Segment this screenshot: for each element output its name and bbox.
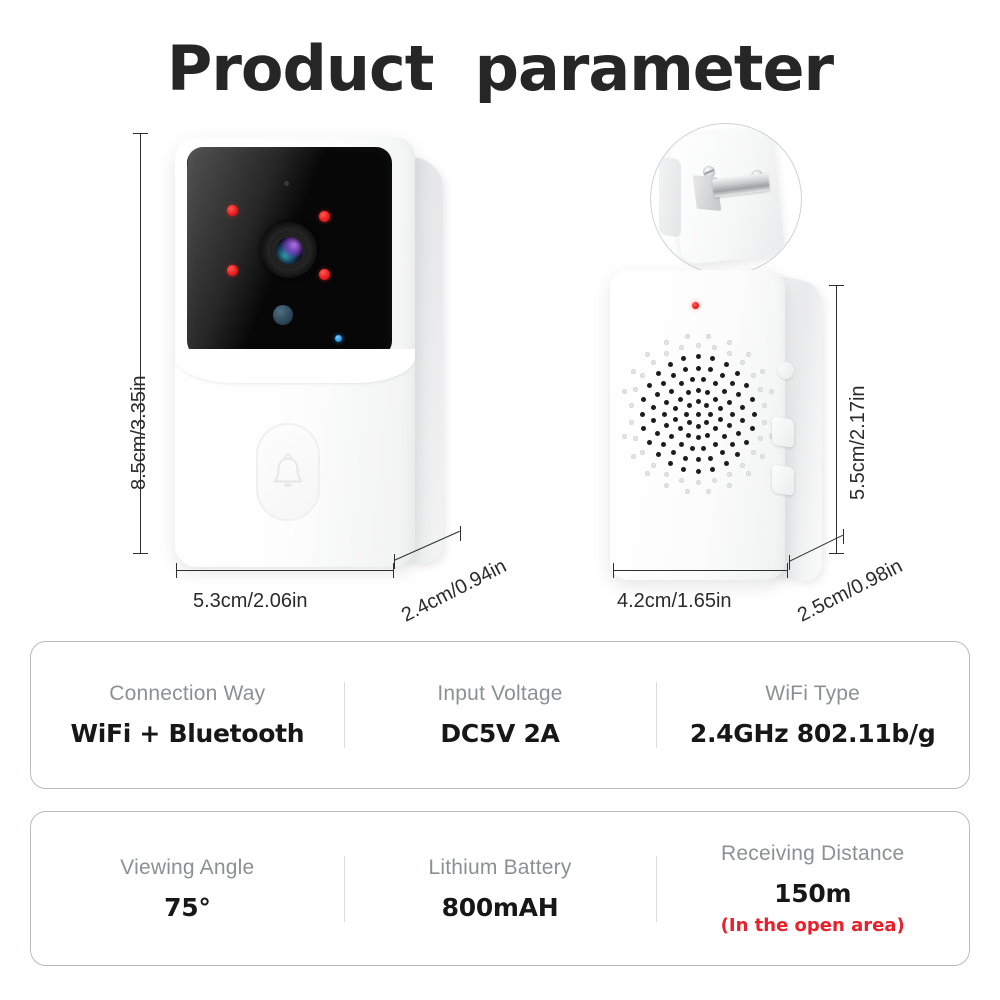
grille-hole <box>718 406 723 411</box>
grille-hole <box>713 426 718 431</box>
chime-depth-cap-left <box>789 555 790 570</box>
spec-label: WiFi Type <box>765 682 860 706</box>
grille-hole <box>669 389 674 394</box>
grille-hole <box>641 426 646 431</box>
grille-hole <box>651 360 656 365</box>
grille-hole <box>751 373 756 378</box>
grille-hole <box>727 483 732 488</box>
spec-card-row-1: Connection Way WiFi + Bluetooth Input Vo… <box>30 641 970 789</box>
grille-hole <box>705 390 710 395</box>
grille-hole <box>713 397 718 402</box>
grille-hole <box>685 489 690 494</box>
product-parameter-page: Product parameter <box>0 0 1000 1000</box>
chime-height-cap-bottom <box>829 553 844 554</box>
ir-led-icon <box>319 211 330 222</box>
grille-hole <box>645 352 650 357</box>
spec-value: 800mAH <box>442 893 559 922</box>
grille-hole <box>673 406 678 411</box>
grille-hole <box>678 426 683 431</box>
grille-hole <box>696 435 701 440</box>
grille-hole <box>664 472 669 477</box>
grille-hole <box>724 362 729 367</box>
chime-width-label: 4.2cm/1.65in <box>617 590 732 613</box>
grille-hole <box>673 417 678 422</box>
grille-hole <box>641 397 646 402</box>
grille-hole <box>740 463 745 468</box>
page-title: Product parameter <box>0 32 1000 105</box>
grille-hole <box>735 452 740 457</box>
grille-hole <box>740 405 745 410</box>
ir-led-icon <box>319 269 330 280</box>
microphone-hole-icon <box>284 181 289 186</box>
grille-hole <box>679 442 684 447</box>
doorbell-width-label: 5.3cm/2.06in <box>193 590 308 613</box>
spec-label: Viewing Angle <box>120 856 254 880</box>
grille-hole <box>762 420 767 425</box>
status-led-icon <box>335 335 342 342</box>
grille-hole <box>710 356 715 361</box>
grille-hole <box>671 373 676 378</box>
grille-hole <box>661 381 666 386</box>
grille-hole <box>751 450 756 455</box>
doorbell-depth-cap-right <box>460 526 461 541</box>
grille-hole <box>696 399 701 404</box>
grille-hole <box>651 463 656 468</box>
grille-hole <box>712 345 717 350</box>
grille-hole <box>750 397 755 402</box>
video-doorbell-illustration <box>163 125 463 595</box>
lens-inner-ring <box>270 231 308 269</box>
grille-hole <box>712 478 717 483</box>
grille-hole <box>760 454 765 459</box>
grille-hole <box>708 412 713 417</box>
grille-hole <box>631 454 636 459</box>
grille-hole <box>746 352 751 357</box>
spec-card-row-2: Viewing Angle 75° Lithium Battery 800mAH… <box>30 811 970 966</box>
grille-hole <box>718 417 723 422</box>
grille-hole <box>669 434 674 439</box>
grille-hole <box>647 440 652 445</box>
grille-hole <box>735 371 740 376</box>
chime-width-line <box>613 570 788 571</box>
grille-hole <box>655 431 660 436</box>
grille-hole <box>681 356 686 361</box>
grille-hole <box>671 450 676 455</box>
grille-hole <box>720 373 725 378</box>
grille-hole <box>696 366 701 371</box>
spec-value: 150m <box>774 879 851 908</box>
grille-hole <box>651 405 656 410</box>
grille-hole <box>706 489 711 494</box>
plug-back-housing <box>669 127 786 265</box>
grille-hole <box>681 467 686 472</box>
spec-label: Receiving Distance <box>721 842 904 866</box>
grille-hole <box>758 387 763 392</box>
grille-hole <box>679 345 684 350</box>
grille-hole <box>727 351 732 356</box>
grille-hole <box>740 418 745 423</box>
grille-hole <box>629 420 634 425</box>
grille-hole <box>722 434 727 439</box>
chime-height-line <box>836 285 837 553</box>
grille-hole <box>640 373 645 378</box>
grille-hole <box>701 446 706 451</box>
doorbell-height-line <box>140 133 141 553</box>
grille-hole <box>696 457 701 462</box>
grille-hole <box>701 377 706 382</box>
spec-cell-input-voltage: Input Voltage DC5V 2A <box>344 642 657 788</box>
chime-indicator-led-icon <box>692 302 699 309</box>
grille-hole <box>744 383 749 388</box>
melody-button[interactable] <box>772 464 794 496</box>
doorbell-depth-cap-left <box>394 554 395 569</box>
grille-hole <box>696 424 701 429</box>
lens-glass <box>276 237 303 264</box>
spec-cell-viewing-angle: Viewing Angle 75° <box>31 812 344 965</box>
spec-value: WiFi + Bluetooth <box>70 719 304 748</box>
grille-hole <box>720 450 725 455</box>
spec-label: Lithium Battery <box>428 856 571 880</box>
grille-hole <box>722 389 727 394</box>
grille-hole <box>687 403 692 408</box>
grille-hole <box>629 403 634 408</box>
grille-hole <box>633 387 638 392</box>
grille-hole <box>705 433 710 438</box>
grille-hole <box>727 400 732 405</box>
grille-hole <box>683 367 688 372</box>
spec-label: Input Voltage <box>437 682 562 706</box>
grille-hole <box>704 420 709 425</box>
chime-height-label: 5.5cm/2.17in <box>847 385 870 500</box>
grille-hole <box>622 389 627 394</box>
grille-hole <box>684 412 689 417</box>
spec-value: 2.4GHz 802.11b/g <box>690 719 936 748</box>
grille-hole <box>687 420 692 425</box>
grille-hole <box>640 450 645 455</box>
grille-hole <box>685 334 690 339</box>
chime-receiver-illustration <box>600 270 860 600</box>
doorbell-black-panel <box>187 147 392 357</box>
grille-hole <box>686 433 691 438</box>
grille-hole <box>752 412 757 417</box>
grille-hole <box>760 369 765 374</box>
grille-hole <box>706 334 711 339</box>
spec-value: DC5V 2A <box>440 719 559 748</box>
grille-hole <box>664 423 669 428</box>
ir-led-icon <box>227 265 238 276</box>
spec-cell-connection-way: Connection Way WiFi + Bluetooth <box>31 642 344 788</box>
spec-cell-receiving-distance: Receiving Distance 150m (In the open are… <box>656 812 969 965</box>
grille-hole <box>746 471 751 476</box>
grille-hole <box>640 412 645 417</box>
grille-hole <box>690 446 695 451</box>
grille-hole <box>631 369 636 374</box>
grille-hole <box>678 397 683 402</box>
grille-hole <box>736 431 741 436</box>
grille-hole <box>661 442 666 447</box>
grille-hole <box>713 442 718 447</box>
grille-hole <box>690 377 695 382</box>
spec-cell-lithium-battery: Lithium Battery 800mAH <box>344 812 657 965</box>
grille-hole <box>651 418 656 423</box>
grille-hole <box>696 480 701 485</box>
grille-hole <box>633 436 638 441</box>
chime-depth-cap-right <box>843 529 844 544</box>
grille-hole <box>724 461 729 466</box>
doorbell-height-cap-top <box>133 133 148 134</box>
grille-hole <box>727 340 732 345</box>
grille-hole <box>708 367 713 372</box>
plug-side-edge <box>659 156 681 237</box>
pair-knob-button[interactable] <box>778 362 794 379</box>
grille-hole <box>736 392 741 397</box>
grille-hole <box>647 383 652 388</box>
grille-hole <box>750 426 755 431</box>
spec-label: Connection Way <box>109 682 265 706</box>
grille-hole <box>655 392 660 397</box>
chime-height-cap-top <box>829 285 844 286</box>
bell-button[interactable] <box>256 423 320 521</box>
doorbell-height-label: 8.5cm/3.35in <box>128 375 151 490</box>
grille-hole <box>664 340 669 345</box>
grille-hole <box>668 362 673 367</box>
grille-hole <box>696 354 701 359</box>
speaker-grille <box>622 326 774 501</box>
spec-value: 75° <box>164 893 210 922</box>
grille-hole <box>664 483 669 488</box>
doorbell-width-line <box>176 570 394 571</box>
spec-cell-wifi-type: WiFi Type 2.4GHz 802.11b/g <box>656 642 969 788</box>
camera-lens-icon <box>261 222 317 278</box>
spec-note: (In the open area) <box>721 915 905 936</box>
ir-led-icon <box>227 205 238 216</box>
bell-icon <box>270 452 306 492</box>
grille-hole <box>710 467 715 472</box>
grille-hole <box>662 412 667 417</box>
grille-hole <box>727 423 732 428</box>
grille-hole <box>730 442 735 447</box>
doorbell-body-notch <box>175 349 415 383</box>
doorbell-width-cap-left <box>176 563 177 578</box>
grille-hole <box>664 400 669 405</box>
pir-sensor-icon <box>273 305 293 325</box>
volume-button[interactable] <box>772 416 794 448</box>
grille-hole <box>769 389 774 394</box>
grille-hole <box>696 412 701 417</box>
grille-hole <box>730 381 735 386</box>
grille-hole <box>713 381 718 386</box>
wall-plug-closeup-inset <box>650 123 802 275</box>
grille-hole <box>758 436 763 441</box>
grille-hole <box>656 371 661 376</box>
grille-hole <box>744 440 749 445</box>
grille-hole <box>762 403 767 408</box>
grille-hole <box>727 472 732 477</box>
grille-hole <box>708 456 713 461</box>
grille-hole <box>622 434 627 439</box>
grille-hole <box>740 360 745 365</box>
product-illustration: 8.5cm/3.35in 5.3cm/2.06in 2.4cm/0.94in 5… <box>0 105 1000 630</box>
grille-hole <box>704 403 709 408</box>
grille-hole <box>683 456 688 461</box>
doorbell-height-cap-bottom <box>133 553 148 554</box>
grille-hole <box>686 390 691 395</box>
grille-hole <box>668 461 673 466</box>
grille-hole <box>679 381 684 386</box>
grille-hole <box>656 452 661 457</box>
grille-hole <box>696 343 701 348</box>
grille-hole <box>664 351 669 356</box>
chime-front-body <box>610 270 785 580</box>
grille-hole <box>645 471 650 476</box>
grille-hole <box>696 469 701 474</box>
grille-hole <box>696 388 701 393</box>
grille-hole <box>679 478 684 483</box>
grille-hole <box>730 412 735 417</box>
chime-width-cap-left <box>613 563 614 578</box>
